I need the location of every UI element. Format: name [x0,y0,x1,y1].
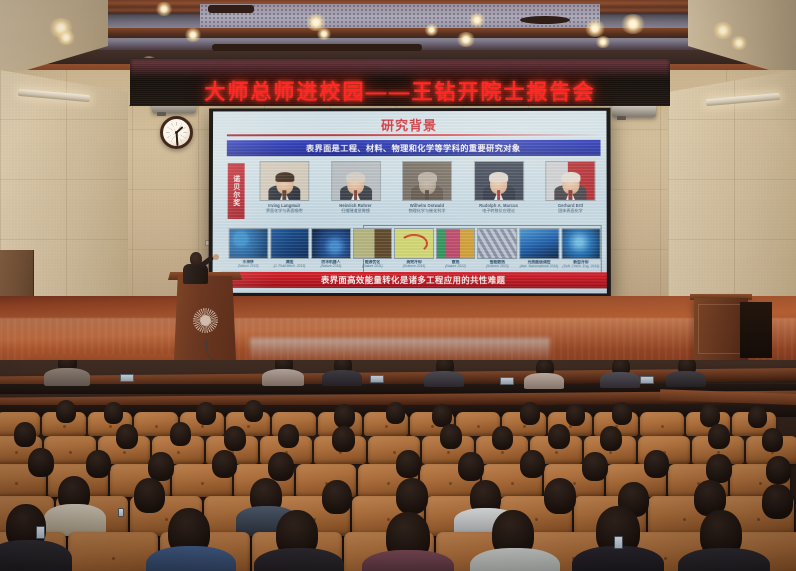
laureate-cell: Rudolph A. Marcus 电子转移反应理论 [467,161,531,223]
ceiling-spotlight [468,13,486,27]
seat [640,412,684,436]
clock-icon [160,116,193,149]
slide-blue-subtitle-bar: 表界面是工程、材料、物理和化学等学科的重要研究对象 [227,140,601,156]
audience-head [28,448,54,477]
ceiling-vent-right [520,16,570,24]
laureate-cell: Wilhelm Ostwald 物理化学与催化科学 [395,161,459,223]
ceiling-spotlight [712,22,734,39]
ceiling-spotlight [620,14,646,34]
speaker-torso [183,264,208,284]
thumbnail-image [394,228,434,259]
side-cabinet-panel [698,304,744,354]
audience-head [492,426,513,450]
laureate-field: 固体表面化学 [538,208,602,213]
audience-head [396,450,421,478]
audience-head [244,400,263,422]
audience-head [440,424,462,449]
audience-head [458,452,484,481]
laureate-portrait [331,161,381,201]
thumbnail-cell: 散热 (Nature 2022) [436,228,476,275]
slide-title-rule [227,134,601,136]
audience-shoulders [470,548,560,571]
audience-head [520,402,540,425]
laureate-field: 扫描隧道显微镜 [324,208,388,213]
audience-head [544,478,576,514]
laureate-field: 界面化学与表面吸附 [252,208,316,213]
laptop [120,374,134,382]
audience-head [268,452,294,481]
stage-right-doorway [740,302,772,358]
smartphone [118,508,124,517]
thumbnail-reference: (Nature 2022) [436,264,476,268]
audience-head [322,480,352,514]
laureate-cell: Heinrich Rohrer 扫描隧道显微镜 [324,161,388,223]
audience-head [334,404,355,428]
audience-head [644,450,669,478]
audience-shoulders [322,370,362,386]
led-banner-text: 大师总师进校园——王钻开院士报告会 [130,76,671,106]
audience-head [224,426,246,451]
ceiling-spotlight [584,20,606,37]
laptop [500,377,514,385]
laureate-field: 电子转移反应理论 [467,208,531,213]
ceiling-spotlight [56,30,76,45]
thumbnail-reference: (Nature 2019) [311,264,350,268]
audience-area [0,360,796,571]
thumbnail-cell: 光热能级调控 (Adv. Nanomaterial 2016) [519,228,559,275]
projection-screen: 研究背景 表界面是工程、材料、物理和化学等学科的重要研究对象 诺贝尔奖 Irvi… [213,111,607,294]
thumbnail-image [561,228,601,259]
slide-conclusion-text: 表界面高效能量转化是诸多工程应用的共性难题 [321,274,505,286]
audience-head [116,424,138,449]
thumbnail-cell: 高效冷却 (Science 2015) [394,228,434,275]
thumbnail-reference: (Nature 2010) [228,264,267,268]
audience-shoulders [362,550,454,571]
audience-head [600,426,622,451]
audience-head [278,424,299,448]
ceiling-spotlight [595,36,611,48]
audience-head [386,402,405,424]
laureate-portrait [259,161,309,201]
laureate-portrait [545,161,595,201]
audience-head [104,402,123,424]
audience-head [766,456,791,484]
seat [68,532,158,571]
thumbnail-reference: (Science 2023) [477,264,517,268]
laptop [640,376,654,384]
audience-shoulders [600,372,640,388]
audience-shoulders [678,548,770,571]
ceiling-spotlight [456,32,476,47]
audience-head [86,450,111,478]
laptop [370,375,384,383]
ceiling-spotlight [424,24,439,36]
thumbnail-cell: 防冰机器人 (Nature 2019) [311,228,351,275]
slide-title: 研究背景 [213,115,607,135]
thumbnail-image [436,228,476,259]
laureate-field: 物理化学与催化科学 [395,208,459,213]
audience-shoulders [254,548,344,571]
audience-head [14,422,36,447]
audience-head [762,428,783,452]
ceiling-light-trough [212,44,422,51]
ceiling-spotlight [184,28,202,42]
lecture-hall-photo: 大师总师进校园——王钻开院士报告会 研究背景 表界面是工程、材料、物理和化学等学… [0,0,796,571]
audience-head [170,422,191,446]
audience-head [134,478,165,513]
audience-shoulders [262,369,304,386]
ceiling-band-upper [0,28,796,38]
projection-screen-frame: 研究背景 表界面是工程、材料、物理和化学等学科的重要研究对象 诺贝尔奖 Irvi… [209,108,611,301]
thumbnail-reference: (Nature 2011) [353,264,393,268]
microphone-cable [206,340,240,362]
thumbnail-image [477,228,517,259]
thumbnail-cell: 水滑移 (Nature 2010) [228,228,267,275]
audience-head [148,452,174,481]
thumbnail-reference: (Adv. Nanomaterial 2016) [519,264,559,268]
audience-shoulders [666,371,706,387]
ceiling-spotlight [730,36,748,50]
laureate-portrait [474,161,524,201]
audience-head [582,452,608,481]
audience-shoulders [44,368,90,386]
ceiling-vent-left [208,5,254,13]
clock-center-pin [175,131,178,134]
audience-head [396,478,428,514]
led-scrolling-banner: 大师总师进校园——王钻开院士报告会 [130,58,671,106]
speaker-hand [213,254,219,260]
ceiling-spotlight [155,2,173,16]
audience-head [612,402,632,425]
smartphone [614,536,623,549]
screen-reflection-on-floor [250,338,550,362]
thumbnail-image [270,228,309,259]
laureate-cell: Irving Langmuir 界面化学与表面吸附 [252,161,316,223]
audience-shoulders [146,546,236,571]
thumbnail-cell: 能源优化 (Nature 2011) [353,228,393,275]
audience-head [748,406,767,428]
audience-head [548,424,570,449]
audience-head [566,404,585,426]
university-emblem-icon [193,308,218,333]
audience-head [708,424,730,449]
audience-head [56,400,76,423]
audience-shoulders [524,373,564,389]
thumbnail-reference: (Science 2015) [394,264,434,268]
smartphone [36,526,45,539]
audience-head [332,426,355,452]
thumbnail-cell: 智能散热 (Science 2023) [477,228,517,275]
slide-conclusion-bar: 表界面高效能量转化是诸多工程应用的共性难题 [220,272,606,289]
thumbnail-image [311,228,351,259]
audience-head [706,454,732,483]
thumbnail-image [519,228,559,259]
audience-head [196,402,216,425]
audience-shoulders [572,546,664,571]
laureate-portrait-row: Irving Langmuir 界面化学与表面吸附 Heinrich Rohre… [252,161,602,223]
audience-shoulders [0,540,72,571]
thumbnail-image [229,228,268,259]
thumbnail-cell: 减阻 (J. Fluid Mech. 2013) [270,228,309,275]
audience-head [762,484,793,519]
nobel-prize-tab: 诺贝尔奖 [228,163,245,219]
thumbnail-reference: (Soft. Chem. Eng. 2019) [561,264,601,268]
thumbnail-cell: 新型冷却 (Soft. Chem. Eng. 2019) [561,228,601,275]
ceiling-spotlight [316,28,332,40]
audience-shoulders [424,371,464,387]
application-thumbnail-row: 水滑移 (Nature 2010) 减阻 (J. Fluid Mech. 201… [228,228,600,275]
audience-head [520,450,545,478]
speaker-person [178,252,218,282]
thumbnail-reference: (J. Fluid Mech. 2013) [270,264,309,268]
led-banner-reflection [130,59,670,76]
audience-head [212,450,237,478]
laureate-portrait [402,161,452,201]
laureate-cell: Gerhard Ertl 固体表面化学 [538,161,602,223]
thumbnail-image [353,228,393,259]
slide-blue-subtitle-text: 表界面是工程、材料、物理和化学等学科的重要研究对象 [306,142,521,154]
speaker-head [190,252,202,266]
